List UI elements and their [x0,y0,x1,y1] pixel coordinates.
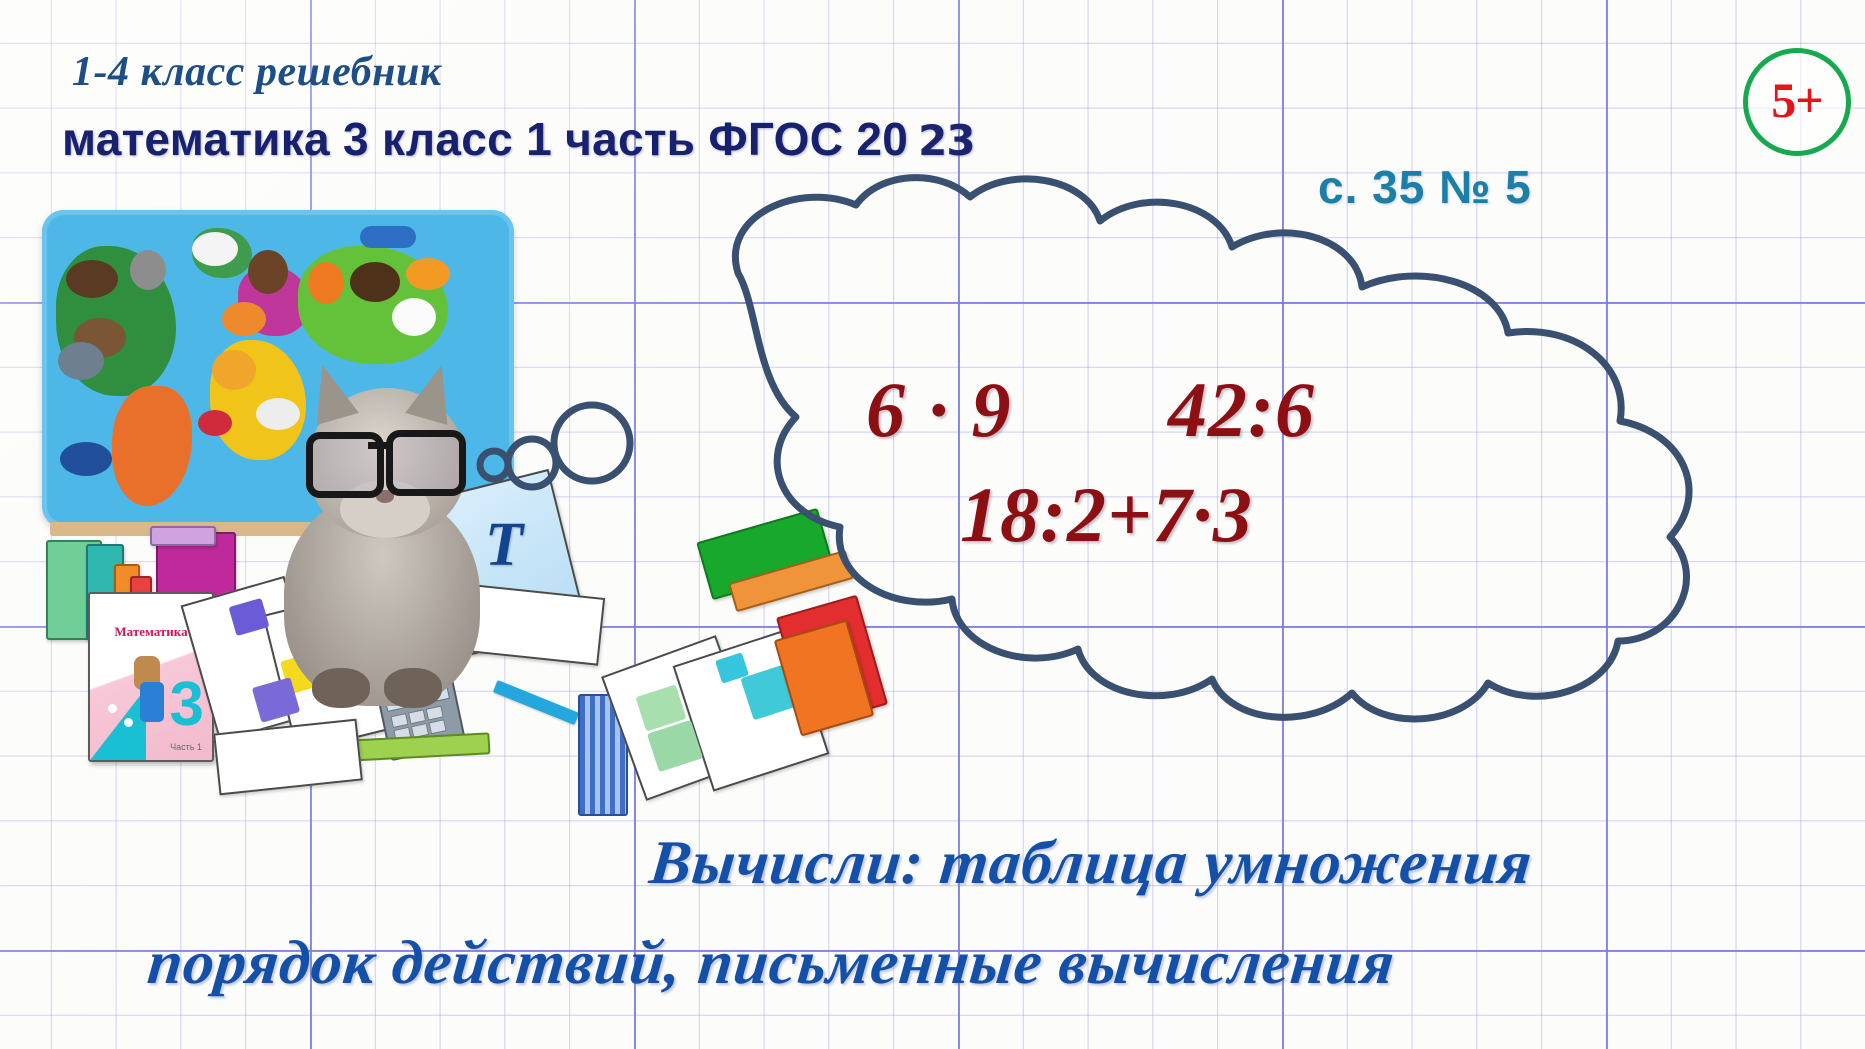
cat-paw-right [384,668,442,708]
textbook-grade-number: 3 [170,674,204,736]
animal-piece-raccoon [130,250,166,290]
page-title-text: математика 3 класс 1 часть ФГОС 20 [62,113,908,165]
animal-piece-fox [308,262,344,304]
animal-piece-bear [66,260,118,298]
animal-piece-polar-bear [192,232,238,266]
cat-ear-right [405,359,463,425]
age-rating-text: 5+ [1771,75,1823,125]
page-title-year-suffix: 23 [918,116,974,165]
thought-bubble-small [480,451,508,479]
book-lilac [150,526,216,546]
textbook-dot-2 [124,718,133,727]
animal-piece-moose [248,250,288,294]
age-rating-badge: 5+ [1743,48,1851,156]
animal-piece-tiger [406,258,450,290]
task-line-1: Вычисли: таблица умножения [646,828,1536,899]
textbook-triangle [88,688,146,762]
cat-photo [268,324,498,724]
page-title: математика 3 класс 1 часть ФГОС 2023 [62,112,975,166]
textbook-part-label: Часть 1 [170,742,202,752]
task-line-2: порядок действий, письменные вычисления [144,928,1398,999]
textbook-child-figure [140,682,164,722]
thought-cloud [470,175,1860,735]
animal-piece-submarine [360,226,416,248]
expression-3: 18:2+7·3 [960,470,1253,560]
expression-2: 42:6 [1168,365,1315,455]
animal-piece-whale [60,442,112,476]
poster-canvas: Математика 3 Часть 1 [0,0,1865,1049]
animal-piece-lion [212,350,256,390]
header-subtitle: 1-4 класс решебник [72,48,442,96]
animal-piece-shark [58,342,104,380]
thought-bubble-large [554,405,630,481]
thought-bubble-medium [508,439,556,487]
animal-piece-camel [222,302,266,336]
animal-piece-crab [198,410,232,436]
cat-glasses-right-lens [386,430,466,496]
cat-ear-left [301,359,359,425]
textbook-dot-1 [108,704,117,713]
expression-1: 6 · 9 [866,365,1013,455]
cat-glasses-bridge [368,442,388,449]
cat-paw-left [312,668,370,708]
animal-piece-brown-bear [350,262,400,302]
